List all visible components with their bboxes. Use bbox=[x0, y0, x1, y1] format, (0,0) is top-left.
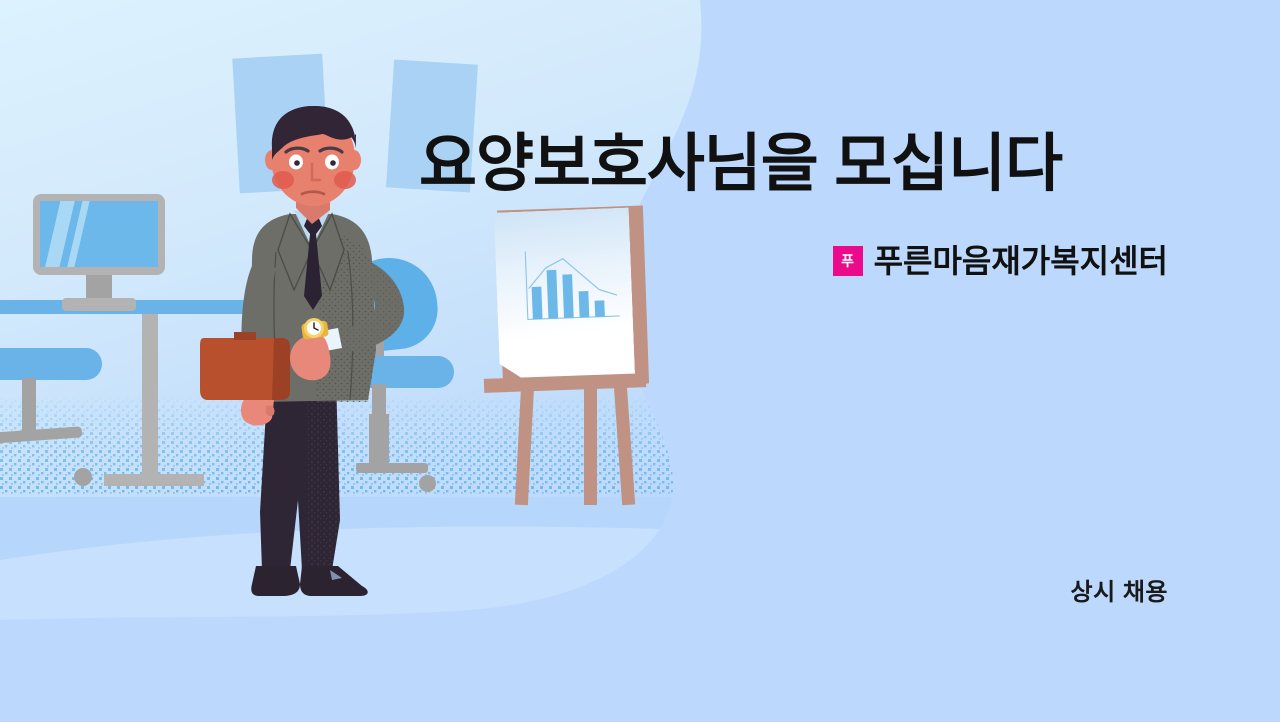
company-name: 푸른마음재가복지센터 bbox=[874, 245, 1168, 277]
ear-right bbox=[347, 150, 361, 170]
businessman-figure bbox=[190, 100, 450, 620]
office-illustration bbox=[0, 0, 1280, 722]
flipchart-bar-chart bbox=[494, 207, 636, 384]
monitor-base bbox=[62, 298, 136, 311]
desk-foot bbox=[104, 474, 204, 486]
page-title: 요양보호사님을 모십니다 bbox=[419, 133, 1062, 196]
briefcase-handle bbox=[234, 332, 256, 340]
company-logo-badge: 푸 bbox=[833, 246, 863, 276]
cheek-right bbox=[334, 171, 356, 189]
shoe-left bbox=[251, 566, 300, 596]
chart-bar bbox=[595, 300, 605, 316]
office-chair-left-wheel bbox=[74, 468, 92, 486]
desk-leg bbox=[142, 314, 158, 474]
chart-bar bbox=[562, 274, 573, 318]
job-poster: 요양보호사님을 모십니다 푸 푸른마음재가복지센터 상시 채용 bbox=[0, 0, 1280, 722]
shoe-right bbox=[300, 566, 368, 596]
easel-leg-front bbox=[584, 385, 597, 505]
chart-bar bbox=[547, 270, 559, 319]
office-chair-left-seat bbox=[0, 348, 102, 380]
hiring-status-text: 상시 채용 bbox=[1071, 572, 1169, 607]
chart-bar bbox=[579, 291, 590, 317]
chart-bar bbox=[532, 287, 543, 320]
cheek-left bbox=[272, 171, 294, 189]
monitor-screen bbox=[40, 201, 158, 267]
company-identity: 푸 푸른마음재가복지센터 bbox=[833, 245, 1168, 277]
